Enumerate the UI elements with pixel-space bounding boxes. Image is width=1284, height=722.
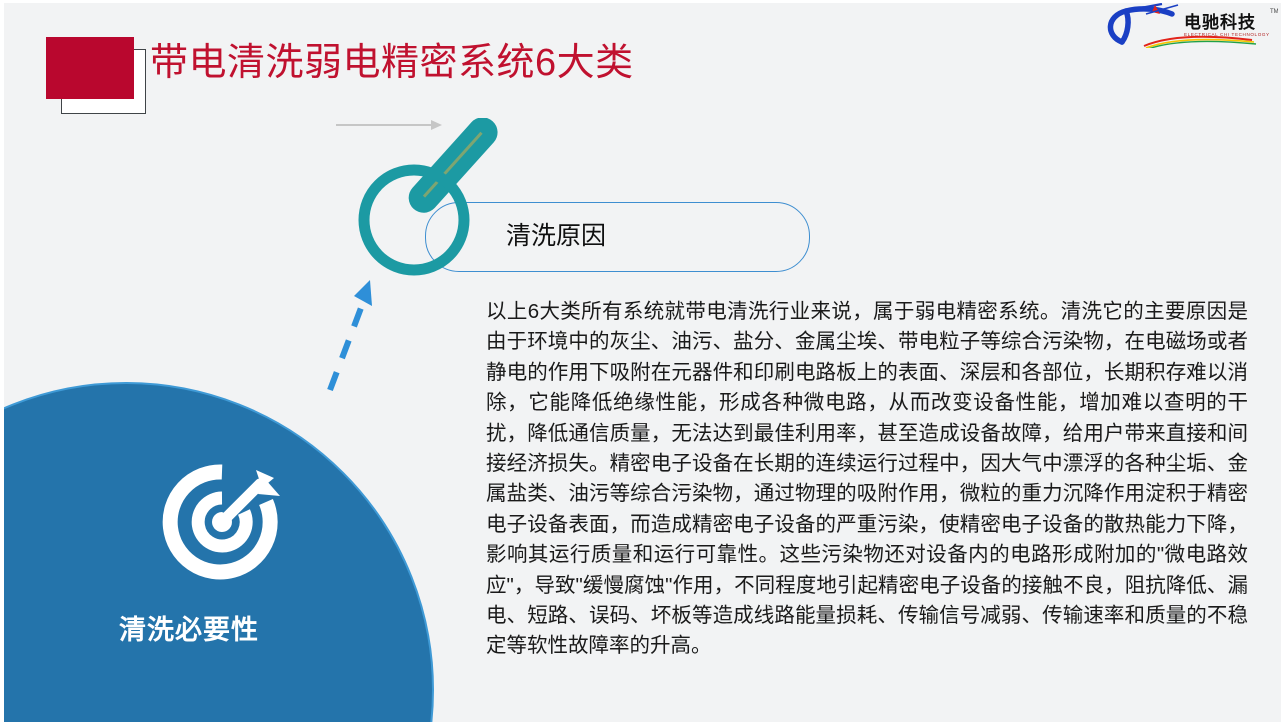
magnifier-icon (350, 118, 540, 283)
svg-text:TM: TM (1270, 9, 1278, 15)
dashed-arrow-up-icon (318, 272, 388, 397)
body-paragraph: 以上6大类所有系统就带电清洗行业来说，属于弱电精密系统。清洗它的主要原因是由于环… (486, 297, 1248, 662)
slide-edge-top (0, 0, 1284, 3)
page-title: 带电清洗弱电精密系统6大类 (150, 38, 634, 88)
slide-edge-left (0, 0, 4, 722)
company-logo: 电驰科技 TM ELECTRICAL CHI TECHNOLOGY (1100, 2, 1278, 48)
necessity-callout-label: 清洗必要性 (0, 608, 378, 647)
svg-text:电驰科技: 电驰科技 (1184, 12, 1256, 32)
title-red-square (46, 37, 134, 99)
presentation-slide: 电驰科技 TM ELECTRICAL CHI TECHNOLOGY 带电清洗弱电… (0, 0, 1284, 722)
target-with-arrow-icon (158, 458, 286, 586)
